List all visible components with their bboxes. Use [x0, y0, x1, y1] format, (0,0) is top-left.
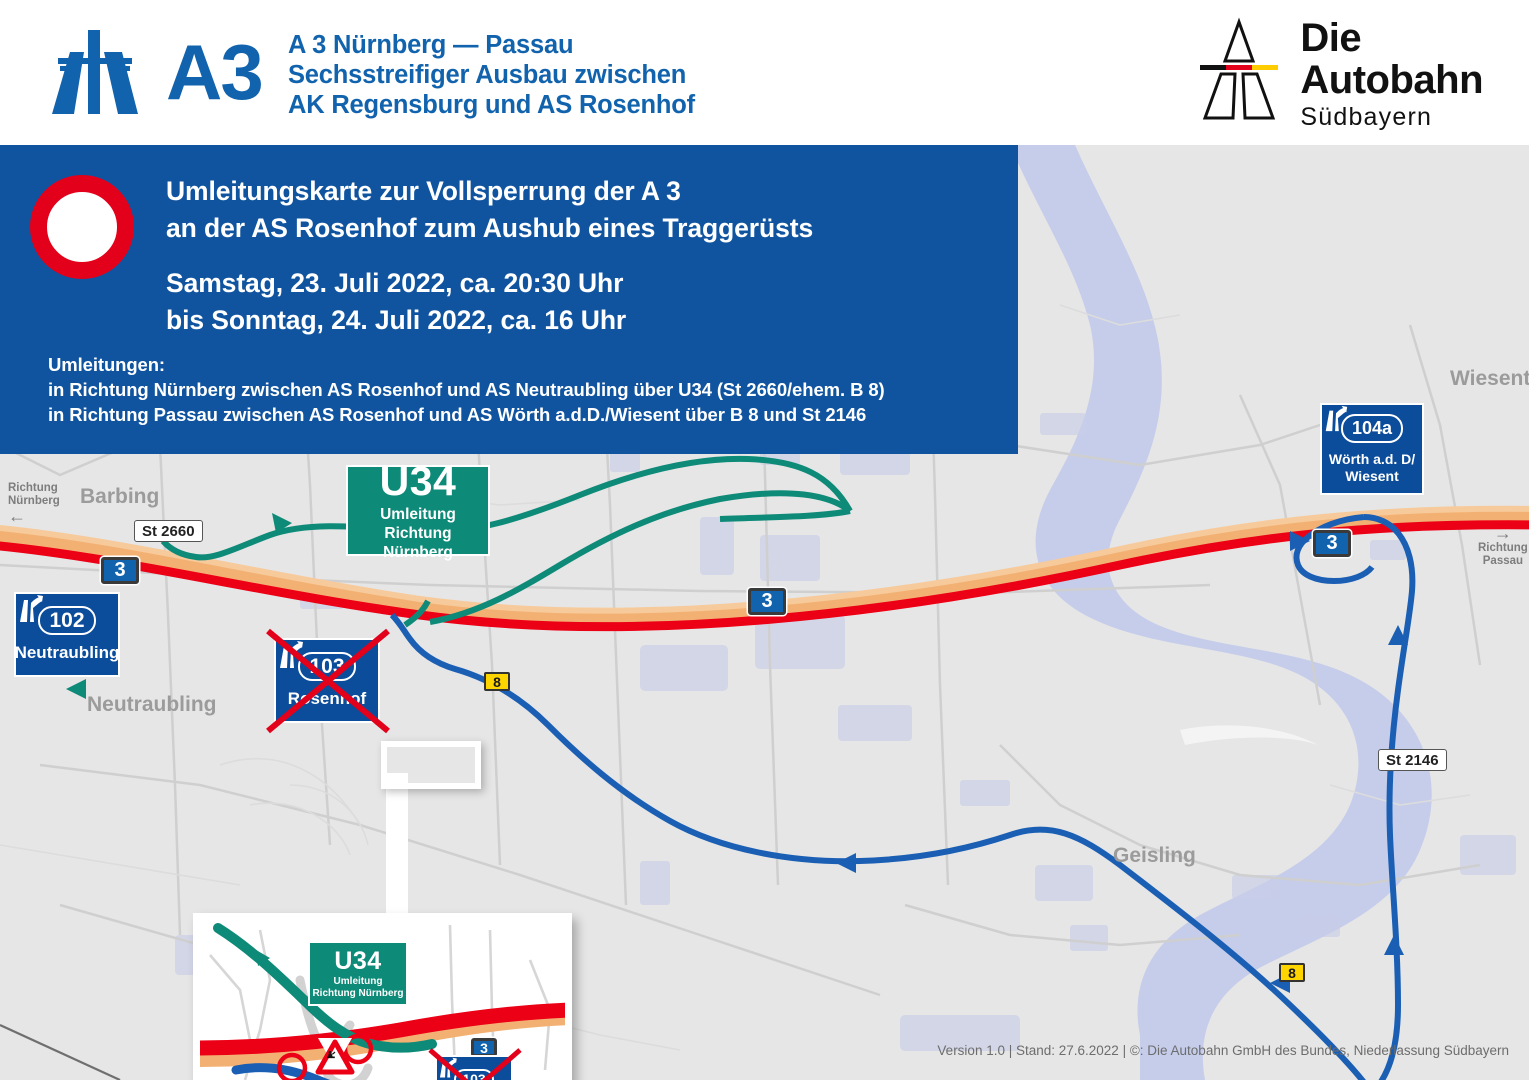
woerth-exit-number: 104a: [1341, 414, 1403, 443]
detour-line-2: in Richtung Passau zwischen AS Rosenhof …: [48, 402, 885, 427]
page-header: A3 A 3 Nürnberg — Passau Sechsstreifiger…: [0, 0, 1529, 145]
detour-line-1: in Richtung Nürnberg zwischen AS Rosenho…: [48, 377, 885, 402]
autobahn-symbol-icon: [44, 22, 164, 122]
b8-shield-right[interactable]: 8: [1279, 963, 1305, 982]
info-detours: Umleitungen: in Richtung Nürnberg zwisch…: [48, 352, 885, 427]
exit-sign-woerth[interactable]: 104a Wörth a.d. D/ Wiesent: [1320, 403, 1424, 495]
brand-line-1: Die: [1300, 18, 1483, 58]
footer-credit: Version 1.0 | Stand: 27.6.2022 | ©: Die …: [937, 1043, 1509, 1058]
direction-nuernberg-arrow: ←: [8, 508, 60, 524]
inset-u34-sub1: Umleitung: [334, 976, 383, 988]
motorway-exit-icon: [16, 594, 46, 624]
neutraubling-exit-number: 102: [38, 606, 95, 635]
detail-leader-band: [386, 773, 408, 923]
motorway-exit-icon: [276, 640, 306, 670]
u34-detour-sign[interactable]: U34 Umleitung Richtung Nürnberg: [346, 465, 490, 556]
st2660-label[interactable]: St 2660: [134, 520, 203, 542]
place-label-neutraubling: Neutraubling: [87, 693, 217, 717]
rosenhof-detail-inset[interactable]: U34 Umleitung Richtung Nürnberg 3 8: [193, 913, 572, 1080]
info-panel: Umleitungskarte zur Vollsperrung der A 3…: [0, 145, 1018, 454]
title-line-2: Sechsstreifiger Ausbau zwischen: [288, 60, 695, 90]
direction-passau-line2: Passau: [1478, 555, 1528, 568]
autobahn-a-icon: [1194, 14, 1284, 126]
inset-u34-code: U34: [334, 948, 381, 974]
rosenhof-exit-number: 103: [298, 652, 355, 681]
b8-shield-left[interactable]: 8: [484, 672, 510, 691]
brand-line-2: Autobahn: [1300, 58, 1483, 102]
direction-label-passau: → Richtung Passau: [1478, 524, 1528, 568]
inset-u34-sign[interactable]: U34 Umleitung Richtung Nürnberg: [308, 941, 408, 1006]
neutraubling-exit-name: Neutraubling: [15, 643, 120, 663]
woerth-sign-top: 104a: [1341, 414, 1403, 443]
direction-label-nuernberg: Richtung Nürnberg ←: [8, 482, 60, 524]
info-date-line2: bis Sonntag, 24. Juli 2022, ca. 16 Uhr: [166, 302, 626, 339]
neutraubling-sign-top: 102: [38, 606, 95, 635]
info-heading-line1: Umleitungskarte zur Vollsperrung der A 3: [166, 173, 813, 210]
poster-root: A3 A 3 Nürnberg — Passau Sechsstreifiger…: [0, 0, 1529, 1080]
brand-wordmark: Die Autobahn Südbayern: [1300, 18, 1483, 132]
motorway-exit-icon: [437, 1057, 459, 1079]
rosenhof-exit-name: Rosenhof: [288, 689, 366, 709]
a3-shield-right[interactable]: 3: [1313, 530, 1351, 557]
inset-u34-sub2: Richtung Nürnberg: [312, 988, 403, 1000]
u34-sub-line2: Richtung Nürnberg: [348, 524, 488, 562]
info-date-line1: Samstag, 23. Juli 2022, ca. 20:30 Uhr: [166, 265, 626, 302]
place-label-geisling: Geisling: [1113, 844, 1196, 868]
info-dates: Samstag, 23. Juli 2022, ca. 20:30 Uhr bi…: [166, 265, 626, 339]
a3-shield-mid[interactable]: 3: [748, 588, 786, 615]
a3-logo: A3: [44, 22, 262, 122]
direction-passau-arrow: →: [1478, 524, 1528, 542]
place-label-wiesent: Wiesent: [1450, 367, 1529, 391]
st2146-label[interactable]: St 2146: [1378, 749, 1447, 771]
u34-sub-line1: Umleitung: [380, 505, 456, 524]
inset-map: U34 Umleitung Richtung Nürnberg 3 8: [200, 920, 565, 1080]
title-line-1: A 3 Nürnberg — Passau: [288, 30, 695, 60]
place-label-barbing: Barbing: [80, 485, 159, 509]
info-heading-line2: an der AS Rosenhof zum Aushub eines Trag…: [166, 210, 813, 247]
motorway-exit-icon: [1322, 405, 1350, 433]
exit-sign-neutraubling[interactable]: 102 Neutraubling: [14, 592, 120, 677]
woerth-exit-name-line2: Wiesent: [1345, 468, 1399, 485]
detour-title: Umleitungen:: [48, 352, 885, 377]
page-title: A 3 Nürnberg — Passau Sechsstreifiger Au…: [288, 30, 695, 120]
direction-nuernberg-line1: Richtung: [8, 482, 60, 495]
direction-passau-line1: Richtung: [1478, 542, 1528, 555]
woerth-exit-name-line1: Wörth a.d. D/: [1329, 451, 1415, 468]
die-autobahn-logo: Die Autobahn Südbayern: [1194, 14, 1483, 132]
exit-sign-rosenhof[interactable]: 103 Rosenhof: [274, 638, 380, 723]
inset-rosenhof-top: 103: [454, 1069, 493, 1080]
info-heading: Umleitungskarte zur Vollsperrung der A 3…: [166, 173, 813, 247]
no-entry-sign-icon: [30, 175, 134, 279]
inset-rosenhof-exit-number: 103: [454, 1069, 493, 1080]
u34-code: U34: [380, 459, 457, 503]
title-line-3: AK Regensburg und AS Rosenhof: [288, 90, 695, 120]
detail-magnifier-frame: [381, 741, 481, 789]
inset-exit-sign-rosenhof[interactable]: 103 Rosenhof: [435, 1055, 513, 1080]
brand-line-3: Südbayern: [1300, 102, 1483, 132]
a3-badge-label: A3: [166, 33, 262, 111]
a3-shield-left[interactable]: 3: [101, 557, 139, 584]
rosenhof-sign-top: 103: [298, 652, 355, 681]
